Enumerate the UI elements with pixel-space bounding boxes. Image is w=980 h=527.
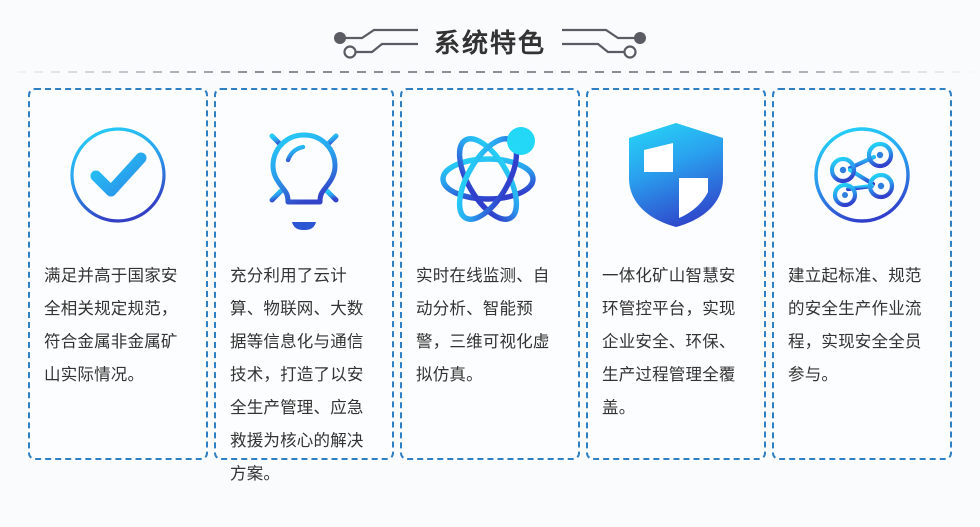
feature-card-list: 满足并高于国家安全相关规定规范，符合金属非金属矿山实际情况。 — [0, 88, 980, 460]
feature-card-text: 充分利用了云计算、物联网、大数据等信息化与通信技术，打造了以安全生产管理、应急救… — [230, 260, 378, 491]
network-share-circle-icon — [810, 90, 914, 260]
section-header: 系统特色 — [0, 0, 980, 88]
feature-card-text: 建立起标准、规范的安全生产作业流程，实现安全全员参与。 — [788, 260, 936, 392]
feature-card[interactable]: 充分利用了云计算、物联网、大数据等信息化与通信技术，打造了以安全生产管理、应急救… — [214, 88, 394, 460]
feature-card[interactable]: 实时在线监测、自动分析、智能预警，三维可视化虚拟仿真。 — [400, 88, 580, 460]
atom-icon — [434, 90, 546, 260]
header-dashed-divider — [0, 71, 980, 73]
check-circle-icon — [66, 90, 170, 260]
circuit-line-left-icon — [332, 27, 420, 61]
shield-icon — [624, 90, 728, 260]
feature-card[interactable]: 建立起标准、规范的安全生产作业流程，实现安全全员参与。 — [772, 88, 952, 460]
feature-card-text: 满足并高于国家安全相关规定规范，符合金属非金属矿山实际情况。 — [44, 260, 192, 392]
feature-card-text: 一体化矿山智慧安环管控平台，实现企业安全、环保、生产过程管理全覆盖。 — [602, 260, 750, 425]
feature-card[interactable]: 一体化矿山智慧安环管控平台，实现企业安全、环保、生产过程管理全覆盖。 — [586, 88, 766, 460]
feature-card-text: 实时在线监测、自动分析、智能预警，三维可视化虚拟仿真。 — [416, 260, 564, 392]
feature-card[interactable]: 满足并高于国家安全相关规定规范，符合金属非金属矿山实际情况。 — [28, 88, 208, 460]
lightbulb-icon — [250, 90, 358, 260]
circuit-line-right-icon — [560, 27, 648, 61]
page-title: 系统特色 — [434, 30, 546, 58]
